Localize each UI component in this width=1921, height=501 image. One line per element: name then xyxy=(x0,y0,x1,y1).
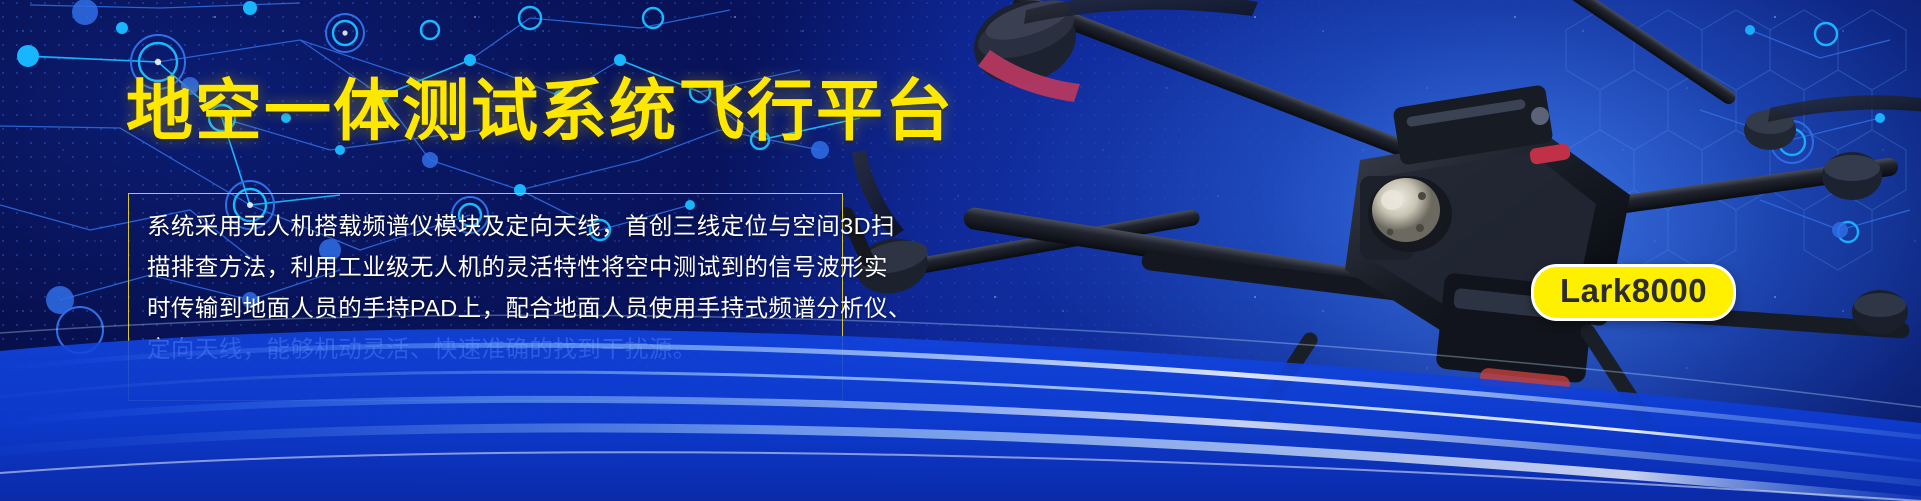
promo-banner: 地空一体测试系统飞行平台 系统采用无人机搭载频谱仪模块及定向天线，首创三线定位与… xyxy=(0,0,1921,501)
product-model-badge: Lark8000 xyxy=(1531,264,1736,321)
description-line-2: 描排查方法，利用工业级无人机的灵活特性将空中测试到的信号波形实 xyxy=(147,247,826,288)
page-title: 地空一体测试系统飞行平台 xyxy=(126,78,954,145)
drone-photo xyxy=(840,0,1921,450)
description-line-1: 系统采用无人机搭载频谱仪模块及定向天线，首创三线定位与空间3D扫 xyxy=(147,206,826,247)
description-line-3: 时传输到地面人员的手持PAD上，配合地面人员使用手持式频谱分析仪、 xyxy=(147,288,826,329)
description-box: 系统采用无人机搭载频谱仪模块及定向天线，首创三线定位与空间3D扫 描排查方法，利… xyxy=(128,193,843,401)
description-line-4: 定向天线，能够机动灵活、快速准确的找到干扰源。 xyxy=(147,329,826,370)
